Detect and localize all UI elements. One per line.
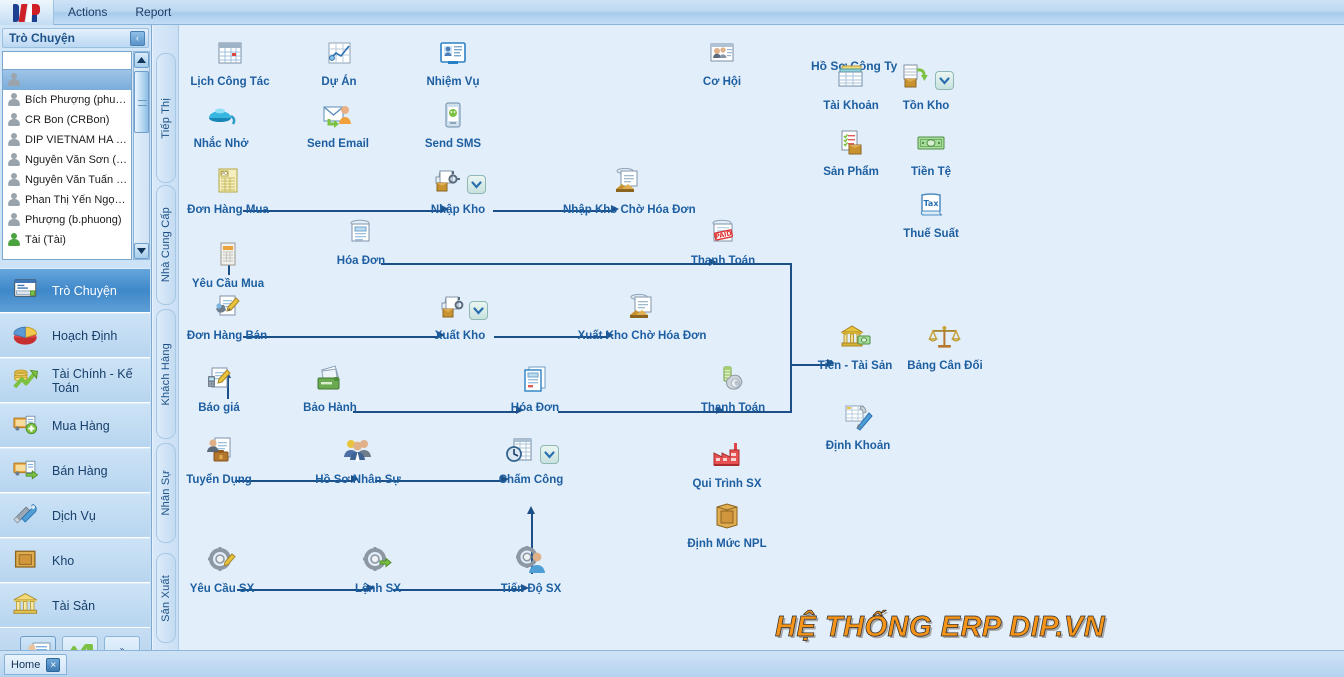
node-label: Thuế Suất	[866, 228, 996, 240]
node-icon-wrap	[793, 402, 923, 438]
node-label: Xuất Kho	[395, 330, 525, 342]
node-icon-wrap	[163, 240, 293, 276]
node-icon-wrap	[388, 100, 518, 136]
sidebar-item-4[interactable]: Mua Hàng	[0, 403, 150, 448]
person-icon	[7, 113, 20, 127]
contact-list-item[interactable]: CR Bon (CRBon)	[3, 110, 131, 130]
node-icon-wrap	[861, 62, 991, 98]
sidebar-item-label: Mua Hàng	[52, 419, 110, 433]
purchase-icon	[12, 411, 42, 441]
pie-chart-icon	[12, 321, 42, 351]
node-label: Tiền Tệ	[866, 166, 996, 178]
person-icon	[7, 173, 20, 187]
bank-icon	[12, 591, 42, 621]
node-label: Nhập Kho	[393, 204, 523, 216]
node-label: Send Email	[273, 138, 403, 150]
node-icon-wrap: Tax	[866, 190, 996, 226]
menu-actions[interactable]: Actions	[54, 0, 121, 24]
finance-icon	[12, 366, 42, 396]
goods-out-pending-icon[interactable]	[625, 291, 659, 328]
contact-list-item[interactable]: Bích Phượng (phu…	[3, 90, 131, 110]
recruitment-icon[interactable]	[202, 435, 236, 472]
node-icon-wrap	[154, 436, 284, 472]
sidebar-item-1[interactable]: Trò Chuyện	[0, 268, 150, 313]
sidebar-item-label: Trò Chuyện	[52, 284, 117, 298]
diagram-node[interactable]: Thanh Toán	[668, 364, 798, 414]
diagram-node[interactable]: Hóa Đơn	[470, 364, 600, 414]
diagram-node[interactable]: Tồn Kho	[861, 62, 991, 112]
diagram-node[interactable]: Nhắc Nhở	[156, 100, 286, 150]
contact-label: Nguyễn Văn Sơn (…	[25, 154, 127, 166]
diagram-node[interactable]: Yêu Cầu SX	[157, 545, 287, 595]
taskbar: Home ×	[0, 650, 1344, 677]
contact-label: Phan Thị Yến Ngọ…	[25, 194, 126, 206]
diagram-node[interactable]: TaxThuế Suất	[866, 190, 996, 240]
production-progress-icon[interactable]	[514, 544, 548, 581]
chevron-down-icon[interactable]	[935, 71, 954, 90]
search-input[interactable]	[3, 54, 131, 71]
node-icon-wrap	[880, 322, 1010, 358]
sidebar-item-7[interactable]: Kho	[0, 538, 150, 583]
node-icon-wrap	[662, 440, 792, 476]
node-label: Dự Án	[274, 76, 404, 88]
contact-label: CR Bon (CRBon)	[25, 114, 109, 126]
payment-paid-icon[interactable]: PAID	[706, 216, 740, 253]
node-icon-wrap	[273, 100, 403, 136]
node-icon-wrap	[265, 364, 395, 400]
diagram-node[interactable]: PAIDThanh Toán	[658, 217, 788, 267]
sidebar-item-3[interactable]: Tài Chính - Kế Toán	[0, 358, 150, 403]
node-label: Bảo Hành	[265, 402, 395, 414]
sidebar-item-6[interactable]: Dịch Vụ	[0, 493, 150, 538]
node-icon-wrap	[395, 292, 525, 328]
node-icon-wrap	[157, 545, 287, 581]
contact-list-item[interactable]: Tài (Tài)	[3, 230, 131, 250]
node-label: Hóa Đơn	[296, 255, 426, 267]
diagram-node[interactable]: Chấm Công	[466, 436, 596, 486]
svg-text:PO: PO	[221, 171, 228, 177]
diagram-node[interactable]: Xuất Kho	[395, 292, 525, 342]
node-label: Tồn Kho	[861, 100, 991, 112]
diagram-node[interactable]: Tiến Độ SX	[466, 545, 596, 595]
node-label: Lệnh SX	[313, 583, 443, 595]
arrow-head	[527, 506, 535, 514]
sms-icon[interactable]	[436, 99, 470, 136]
email-icon[interactable]	[321, 99, 355, 136]
node-icon-wrap: PO	[163, 166, 293, 202]
taskbar-tab-label: Home	[11, 659, 40, 671]
person-icon	[7, 93, 20, 107]
node-icon-wrap	[657, 38, 787, 74]
sales-order-icon[interactable]	[210, 291, 244, 328]
node-label: Bảng Cân Đối	[880, 360, 1010, 372]
person-icon	[7, 193, 20, 207]
node-label: Đơn Hàng Mua	[163, 204, 293, 216]
node-label: Nhập Kho Chờ Hóa Đơn	[563, 204, 693, 216]
invoice-icon[interactable]	[344, 216, 378, 253]
diagram-node[interactable]: Nhiệm Vụ	[388, 38, 518, 88]
left-panel-title: Trò Chuyện	[3, 31, 130, 45]
menu-report-label: Report	[135, 5, 171, 19]
diagram-node[interactable]: Đơn Hàng Bán	[162, 292, 292, 342]
bell-icon[interactable]	[204, 99, 238, 136]
goods-in-pending-icon[interactable]	[611, 165, 645, 202]
chevron-left-icon: ‹	[136, 34, 139, 43]
erp-diagram-canvas: Tiếp ThịNhà Cung CấpKhách HàngNhân SựSản…	[153, 25, 1344, 650]
app-window: Actions Report Trò Chuyện ‹ Bích Phượng …	[0, 0, 1344, 677]
person-icon	[7, 133, 20, 147]
node-label: Send SMS	[388, 138, 518, 150]
menu-report[interactable]: Report	[121, 0, 185, 24]
menu-actions-label: Actions	[68, 5, 107, 19]
sidebar-item-5[interactable]: Bán Hàng	[0, 448, 150, 493]
sidebar-item-label: Tài Sản	[52, 599, 95, 613]
diagram-node[interactable]: Send SMS	[388, 100, 518, 150]
material-box-icon[interactable]	[710, 499, 744, 536]
node-label: Đơn Hàng Bán	[162, 330, 292, 342]
contact-list[interactable]: Bích Phượng (phu…CR Bon (CRBon)DIP VIETN…	[2, 70, 132, 260]
diagram-node[interactable]: Qui Trình SX	[662, 440, 792, 490]
node-icon-wrap	[313, 545, 443, 581]
payment-receipt-icon[interactable]	[716, 363, 750, 400]
node-label: Xuất Kho Chờ Hóa Đơn	[577, 330, 707, 342]
warranty-icon[interactable]	[313, 363, 347, 400]
diagram-node[interactable]: Hóa Đơn	[296, 217, 426, 267]
factory-icon[interactable]	[710, 439, 744, 476]
diagram-node[interactable]: Send Email	[273, 100, 403, 150]
person-icon	[7, 213, 20, 227]
node-icon-wrap	[662, 500, 792, 536]
scroll-down-button[interactable]	[134, 243, 149, 259]
diagram-node[interactable]: Định Khoản	[793, 402, 923, 452]
contact-label: Tài (Tài)	[25, 234, 66, 246]
watermark-text: HỆ THỐNG ERP DIP.VN	[775, 611, 1105, 644]
quotation-icon[interactable]	[202, 363, 236, 400]
product-icon[interactable]	[834, 127, 868, 164]
node-label: Tuyển Dụng	[154, 474, 284, 486]
sidebar-item-label: Hoạch Định	[52, 329, 117, 343]
menu-bar: Actions Report	[0, 0, 1344, 25]
contact-list-scrollbar[interactable]	[133, 51, 150, 260]
invoice2-icon[interactable]	[518, 363, 552, 400]
diagram-node[interactable]: Hồ Sơ Nhân Sự	[293, 436, 423, 486]
goods-in-icon[interactable]	[431, 165, 465, 202]
diagram-node[interactable]: Lệnh SX	[313, 545, 443, 595]
sidebar-item-label: Bán Hàng	[52, 464, 108, 478]
sidebar-nav: Trò ChuyệnHoạch ĐịnhTài Chính - Kế ToánM…	[0, 268, 150, 628]
node-label: Nhiệm Vụ	[388, 76, 518, 88]
contact-label: Phượng (b.phuong)	[25, 214, 122, 226]
taskbar-tab-home[interactable]: Home ×	[4, 654, 67, 675]
close-icon[interactable]: ×	[46, 658, 60, 672]
node-label: Qui Trình SX	[662, 478, 792, 490]
node-icon-wrap	[388, 38, 518, 74]
sidebar-item-2[interactable]: Hoạch Định	[0, 313, 150, 358]
chat-icon	[12, 276, 42, 306]
sidebar-item-label: Tài Chính - Kế Toán	[52, 367, 150, 395]
node-icon-wrap	[274, 38, 404, 74]
contact-list-item[interactable]: Nguyễn Văn Tuấn …	[3, 170, 131, 190]
contact-label: Nguyễn Văn Tuấn …	[25, 174, 127, 186]
box-icon	[12, 546, 42, 576]
project-chart-icon[interactable]	[322, 37, 356, 74]
svg-text:Tax: Tax	[924, 199, 940, 208]
contact-list-item[interactable]: Nguyễn Văn Sơn (…	[3, 150, 131, 170]
chat-search-box[interactable]	[2, 51, 132, 70]
node-icon-wrap	[577, 292, 707, 328]
node-icon-wrap	[293, 436, 423, 472]
contact-label: DIP VIETNAM HA …	[25, 134, 127, 146]
diagram-node[interactable]: Yêu Cầu Mua	[163, 240, 293, 290]
diagram-node[interactable]: Tiền Tệ	[866, 128, 996, 178]
node-label: Tiến Độ SX	[466, 583, 596, 595]
dip-logo-icon[interactable]	[0, 0, 54, 25]
node-icon-wrap: PAID	[658, 217, 788, 253]
node-label: Chấm Công	[466, 474, 596, 486]
diagram-node[interactable]: Dự Án	[274, 38, 404, 88]
chevron-down-icon[interactable]	[467, 175, 486, 194]
node-icon-wrap	[393, 166, 523, 202]
bank-money-icon[interactable]	[838, 321, 872, 358]
sales-icon	[12, 456, 42, 486]
node-icon-wrap	[866, 128, 996, 164]
money-icon[interactable]	[914, 127, 948, 164]
node-label: Định Khoản	[793, 440, 923, 452]
node-label: Thanh Toán	[658, 255, 788, 267]
task-card-icon[interactable]	[436, 37, 470, 74]
tools-icon	[12, 501, 42, 531]
hr-people-icon[interactable]	[341, 435, 375, 472]
node-icon-wrap	[466, 436, 596, 472]
diagram-node[interactable]: Nhập Kho Chờ Hóa Đơn	[563, 166, 693, 216]
node-icon-wrap	[466, 545, 596, 581]
diagram-node[interactable]: POĐơn Hàng Mua	[163, 166, 293, 216]
left-panel: Trò Chuyện ‹ Bích Phượng (phu…CR Bon (CR…	[0, 25, 152, 650]
chevron-down-icon[interactable]	[469, 301, 488, 320]
purchase-request-icon[interactable]	[211, 239, 245, 276]
person-icon	[7, 233, 20, 247]
node-icon-wrap	[668, 364, 798, 400]
accounting-entry-icon[interactable]	[841, 401, 875, 438]
contact-label: Bích Phượng (phu…	[25, 94, 126, 106]
goods-out-icon[interactable]	[433, 291, 467, 328]
node-icon-wrap	[470, 364, 600, 400]
node-label: Thanh Toán	[668, 402, 798, 414]
diagram-node[interactable]: Bảo Hành	[265, 364, 395, 414]
contact-list-item[interactable]: Phan Thị Yến Ngọ…	[3, 190, 131, 210]
diagram-node[interactable]: Tuyển Dụng	[154, 436, 284, 486]
collapse-panel-button[interactable]: ‹	[130, 31, 145, 46]
node-icon-wrap	[296, 217, 426, 253]
diagram-node[interactable]: Nhập Kho	[393, 166, 523, 216]
diagram-node[interactable]: Bảng Cân Đối	[880, 322, 1010, 372]
contact-list-item[interactable]: Phượng (b.phuong)	[3, 210, 131, 230]
production-order-icon[interactable]	[361, 544, 395, 581]
diagram-node[interactable]: Cơ Hội	[657, 38, 787, 88]
inventory-icon[interactable]	[899, 61, 933, 98]
scroll-up-button[interactable]	[134, 52, 149, 68]
production-request-icon[interactable]	[205, 544, 239, 581]
node-label: Yêu Cầu Mua	[163, 278, 293, 290]
node-label: Yêu Cầu SX	[157, 583, 287, 595]
contact-list-item[interactable]	[3, 70, 131, 90]
node-label: Định Mức NPL	[662, 538, 792, 550]
contact-list-item[interactable]: DIP VIETNAM HA …	[3, 130, 131, 150]
scrollbar-thumb[interactable]	[134, 71, 149, 133]
node-icon-wrap	[162, 292, 292, 328]
sidebar-item-8[interactable]: Tài Sản	[0, 583, 150, 628]
tax-icon[interactable]: Tax	[914, 189, 948, 226]
node-label: Cơ Hội	[657, 76, 787, 88]
opportunity-icon[interactable]	[705, 37, 739, 74]
node-label: Hồ Sơ Nhân Sự	[293, 474, 423, 486]
sidebar-item-label: Dịch Vụ	[52, 509, 96, 523]
purchase-order-icon[interactable]: PO	[211, 165, 245, 202]
timesheet-icon[interactable]	[504, 435, 538, 472]
node-label: Nhắc Nhở	[156, 138, 286, 150]
node-label: Hóa Đơn	[470, 402, 600, 414]
sidebar-item-label: Kho	[52, 554, 74, 568]
node-icon-wrap	[563, 166, 693, 202]
person-icon	[7, 153, 20, 167]
chevron-down-icon[interactable]	[540, 445, 559, 464]
diagram-node[interactable]: Xuất Kho Chờ Hóa Đơn	[577, 292, 707, 342]
person-icon	[7, 73, 20, 87]
balance-scale-icon[interactable]	[928, 321, 962, 358]
calendar-icon[interactable]	[213, 37, 247, 74]
left-panel-header: Trò Chuyện ‹	[2, 28, 149, 48]
diagram-node[interactable]: Định Mức NPL	[662, 500, 792, 550]
node-icon-wrap	[156, 100, 286, 136]
